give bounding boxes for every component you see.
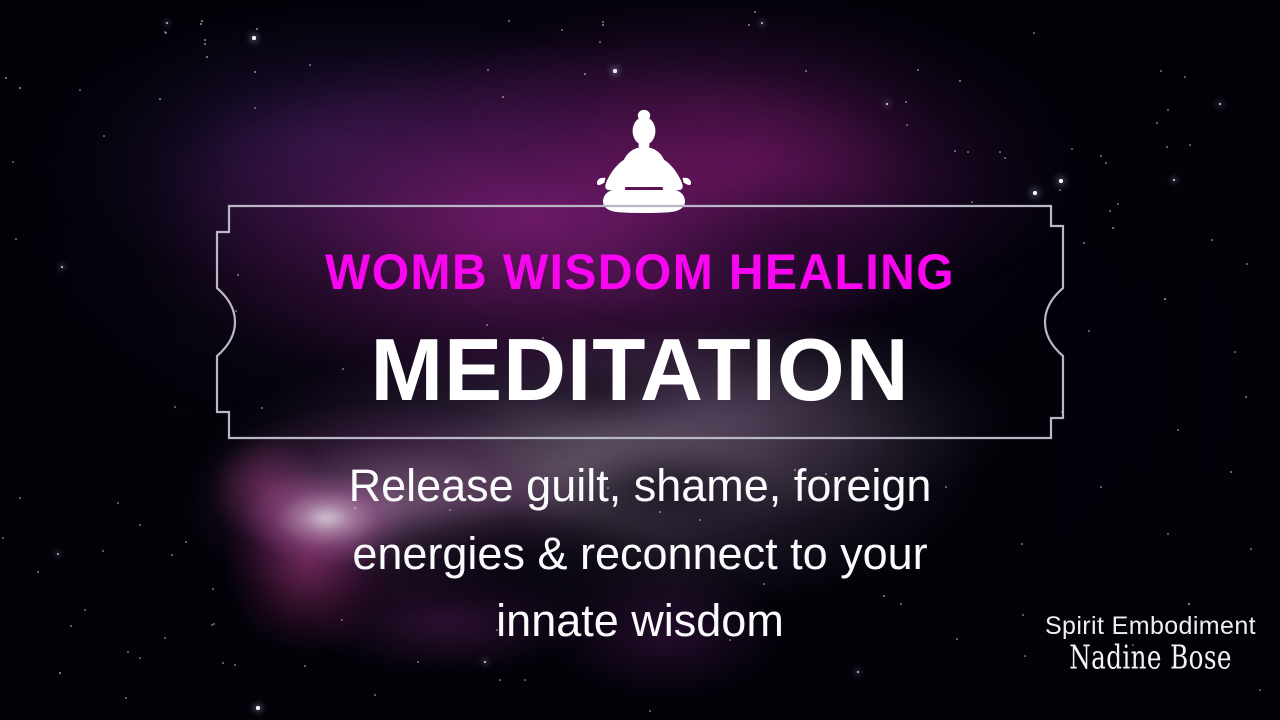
brand-name: Spirit Embodiment [1045,613,1256,641]
poster-canvas: WOMB WISDOM HEALING MEDITATION Release g… [0,0,1280,720]
lotus-meditation-figure-icon [592,108,696,214]
tagline-line-1: Release guilt, shame, foreign [280,452,1000,520]
page-title-subhead: MEDITATION [6,326,1273,414]
page-title-headline: WOMB WISDOM HEALING [26,247,1255,297]
tagline-line-2: energies & reconnect to your [280,520,1000,588]
signature-block: Spirit Embodiment Nadine Bose [1045,613,1256,674]
author-signature: Nadine Bose [1064,641,1237,675]
tagline-line-3: innate wisdom [280,587,1000,655]
tagline-block: Release guilt, shame, foreign energies &… [280,452,1000,655]
